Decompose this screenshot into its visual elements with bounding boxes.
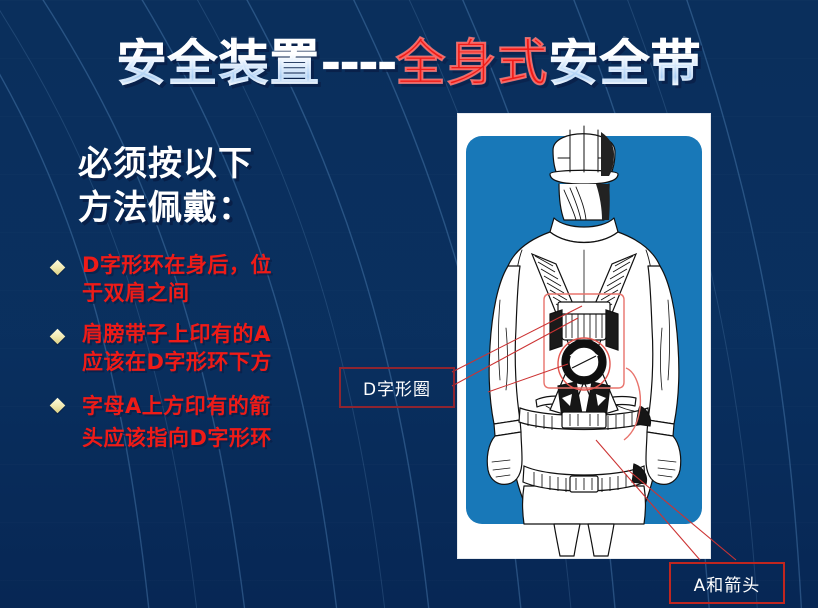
subtitle: 必须按以下 方法佩戴： <box>78 143 408 230</box>
bullet-list: D字形环在身后，位 于双肩之间 肩膀带子上印有的A 应该在D字形环下方 字母A上… <box>44 252 384 468</box>
subtitle-line-1: 必须按以下 <box>78 143 408 187</box>
callout-d-ring-label: D字形圈 <box>363 375 431 400</box>
callout-a-and-arrow-label: A和箭头 <box>694 571 761 596</box>
list-item: 肩膀带子上印有的A 应该在D字形环下方 <box>44 321 384 377</box>
bullet-3-line-2: 头应该指向D字形环 <box>82 422 384 455</box>
bullet-1-line-1: D字形环在身后，位 <box>82 252 384 280</box>
diamond-bullet-icon <box>50 260 66 276</box>
diamond-bullet-icon <box>50 397 66 413</box>
harness-illustration-panel <box>458 114 710 558</box>
callout-d-ring[interactable]: D字形圈 <box>339 367 455 408</box>
list-item: 字母A上方印有的箭 头应该指向D字形环 <box>44 390 384 455</box>
bullet-2-line-1: 肩膀带子上印有的A <box>82 321 384 349</box>
title-part-white-1: 安全装置 <box>116 38 320 88</box>
diamond-bullet-icon <box>50 329 66 345</box>
page-title: 安全装置----全身式安全带 <box>0 38 818 88</box>
bullet-1-line-2: 于双肩之间 <box>82 280 384 308</box>
worker-back-view-harness-illustration <box>458 114 710 558</box>
presentation-slide: 安全装置----全身式安全带 必须按以下 方法佩戴： D字形环在身后，位 于双肩… <box>0 0 818 608</box>
subtitle-line-2: 方法佩戴： <box>78 187 408 231</box>
list-item: D字形环在身后，位 于双肩之间 <box>44 252 384 308</box>
title-part-red: 全身式 <box>396 38 549 88</box>
title-dash: ---- <box>320 38 395 88</box>
title-part-white-2: 安全带 <box>549 38 702 88</box>
callout-a-and-arrow[interactable]: A和箭头 <box>669 562 785 604</box>
